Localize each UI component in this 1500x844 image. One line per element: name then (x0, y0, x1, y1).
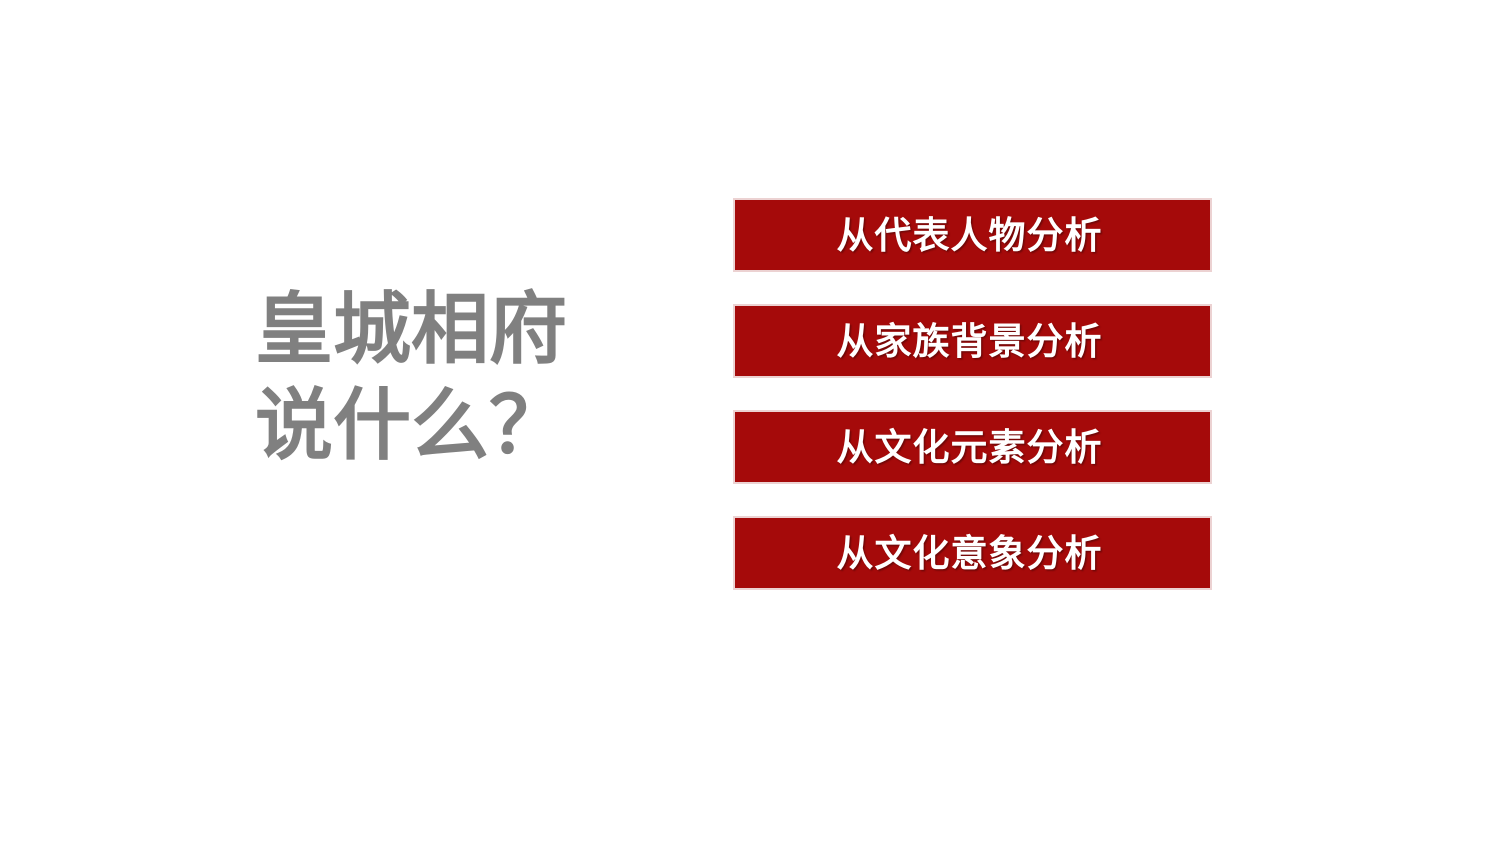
presentation-slide: 皇城相府 说什么？ 从代表人物分析 从家族背景分析 从文化元素分析 从文化意象分… (0, 0, 1500, 844)
topic-bar-label: 从文化意象分析 (837, 535, 1103, 572)
topic-bar-label: 从代表人物分析 (837, 217, 1103, 254)
topic-bar-item[interactable]: 从文化意象分析 (733, 516, 1212, 590)
page-title: 皇城相府 说什么？ (255, 281, 685, 473)
topic-bar-item[interactable]: 从代表人物分析 (733, 198, 1212, 272)
topic-bar-item[interactable]: 从家族背景分析 (733, 304, 1212, 378)
topic-bar-item[interactable]: 从文化元素分析 (733, 410, 1212, 484)
page-title-line-1: 皇城相府 (255, 281, 685, 377)
topic-bar-label: 从家族背景分析 (837, 323, 1103, 360)
topic-bar-label: 从文化元素分析 (837, 429, 1103, 466)
page-title-line-2: 说什么？ (255, 377, 685, 473)
topic-bar-list: 从代表人物分析 从家族背景分析 从文化元素分析 从文化意象分析 (733, 198, 1212, 590)
